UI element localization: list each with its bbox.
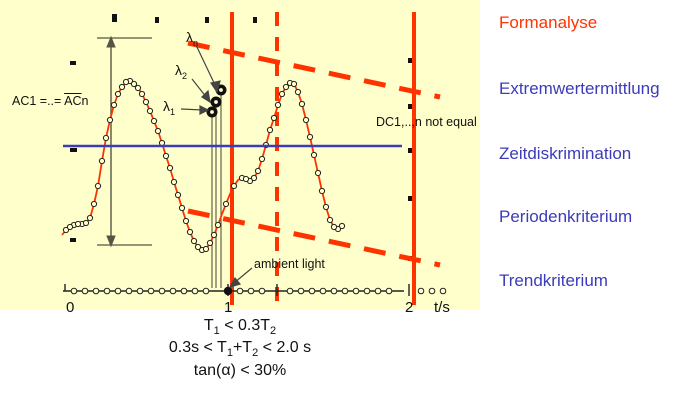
lambda-1-subscript: 1 bbox=[170, 107, 175, 117]
x-tick-label-1: 1 bbox=[224, 300, 232, 315]
lambda-n-subscript: n bbox=[193, 38, 198, 48]
side-label-extremwertermittlung: Extremwertermittlung bbox=[499, 80, 660, 97]
formula-1-t1: T bbox=[204, 317, 214, 334]
formula-1-rest: < 0.3T bbox=[220, 317, 270, 334]
lambda-n-symbol: λ bbox=[186, 29, 193, 45]
formula-2-a: 0.3s < T bbox=[169, 339, 227, 356]
lambda-guide-lines bbox=[212, 95, 221, 288]
lambda-1-label: λ1 bbox=[163, 99, 175, 117]
top-tick-marks bbox=[112, 14, 257, 23]
left-axis-ticks bbox=[70, 61, 77, 242]
lambda-1-symbol: λ bbox=[163, 98, 170, 114]
ambient-light-marker bbox=[224, 287, 232, 295]
lambda-2-symbol: λ bbox=[175, 62, 182, 78]
ac-equal-prefix: AC1 =..= bbox=[12, 94, 64, 108]
ac-equal-suffix: n bbox=[82, 94, 89, 108]
x-axis-unit-label: t/s bbox=[434, 300, 450, 315]
x-tick-label-0: 0 bbox=[66, 300, 74, 315]
formula-line-1: T1 < 0.3T2 bbox=[0, 316, 480, 338]
x-tick-label-2: 2 bbox=[405, 300, 413, 315]
slide-canvas: AC1 =..= ACn DC1,..,n not equal ambient … bbox=[0, 0, 697, 407]
side-label-formanalyse: Formanalyse bbox=[499, 14, 597, 31]
lambda-2-subscript: 2 bbox=[182, 71, 187, 81]
ac-equal-annotation: AC1 =..= ACn bbox=[12, 95, 88, 108]
lambda-2-label: λ2 bbox=[175, 63, 187, 81]
side-label-periodenkriterium: Periodenkriterium bbox=[499, 208, 632, 225]
ambient-light-annotation: ambient light bbox=[254, 258, 325, 271]
criteria-formulas: T1 < 0.3T2 0.3s < T1+T2 < 2.0 s tan(α) <… bbox=[0, 316, 480, 382]
formula-2-c: < 2.0 s bbox=[258, 339, 311, 356]
dc-not-equal-annotation: DC1,..,n not equal bbox=[376, 116, 477, 129]
side-label-zeitdiskrimination: Zeitdiskrimination bbox=[499, 145, 631, 162]
ac-equal-overline: AC bbox=[64, 94, 81, 108]
formula-line-2: 0.3s < T1+T2 < 2.0 s bbox=[0, 338, 480, 360]
side-label-trendkriterium: Trendkriterium bbox=[499, 272, 608, 289]
lambda-n-label: λn bbox=[186, 30, 198, 48]
formula-line-3: tan(α) < 30% bbox=[0, 361, 480, 382]
formula-1-t2-sub: 2 bbox=[270, 325, 276, 337]
formula-2-b: +T bbox=[233, 339, 252, 356]
signal-data-markers bbox=[63, 78, 344, 252]
